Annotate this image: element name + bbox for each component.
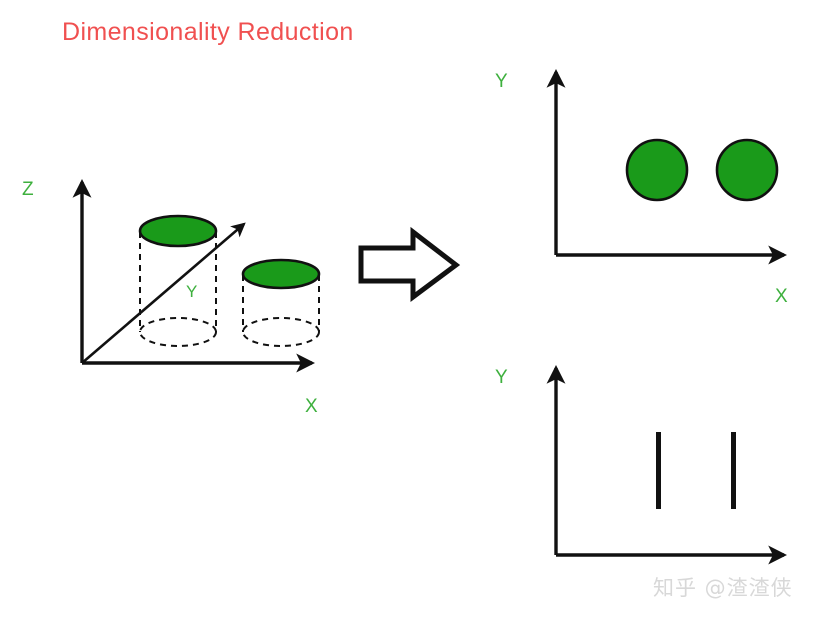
dimensionality-reduction-diagram: Dimensionality Reduction [0, 0, 830, 620]
diagram-canvas: Dimensionality Reduction [0, 0, 830, 620]
page-title: Dimensionality Reduction [62, 18, 354, 46]
cylinder-2-top-ellipse [243, 260, 319, 288]
cylinder-2-base-ellipse [243, 318, 319, 346]
cylinder-1-top-ellipse [140, 216, 216, 246]
block-arrow-connector [361, 232, 456, 297]
y-axis-label-3d: Y [186, 282, 197, 301]
cylinder-1-base-ellipse [140, 318, 216, 346]
panel-reduced-y-plot: Y [495, 367, 784, 555]
right-arrow-icon [361, 232, 456, 297]
x-axis-label-3d: X [305, 396, 318, 417]
y-axis-label-2d: Y [495, 71, 508, 92]
z-axis-label: Z [22, 179, 34, 200]
panel-source-3d-plot: Z Y X [22, 179, 319, 417]
circle-marker-2 [717, 140, 777, 200]
y-axis-label-1d: Y [495, 367, 508, 388]
watermark: 知乎 @渣渣侠 [653, 576, 793, 600]
bar-marker-1 [656, 432, 661, 509]
circle-marker-1 [627, 140, 687, 200]
panel-reduced-xy-plot: Y X [495, 71, 788, 307]
cylinder-marker-2 [243, 260, 319, 346]
bar-marker-2 [731, 432, 736, 509]
x-axis-label-2d: X [775, 286, 788, 307]
